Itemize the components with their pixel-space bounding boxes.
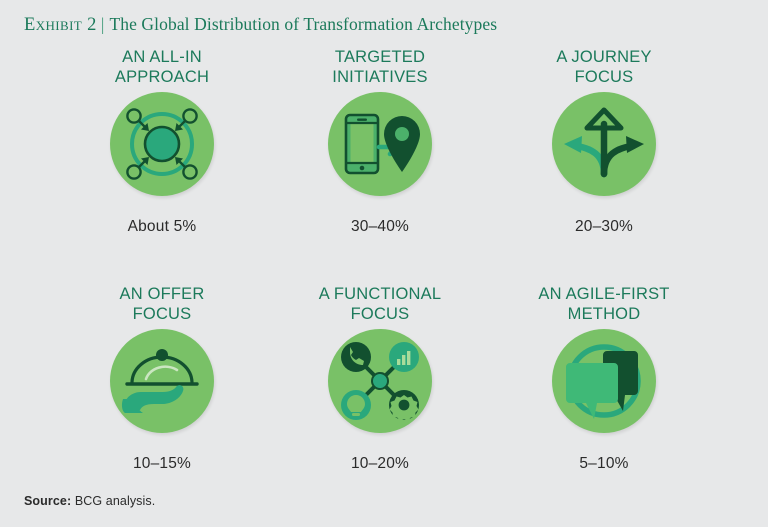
archetype-label-line1: AN ALL-IN [47, 48, 277, 68]
archetype-row-1: AN ALL-IN APPROACH [0, 48, 768, 285]
archetype-icon-wrap [489, 327, 719, 445]
archetype-card-functional-focus: A FUNCTIONAL FOCUS [265, 285, 495, 473]
archetype-label: TARGETED INITIATIVES [265, 48, 495, 90]
archetype-row-2: AN OFFER FOCUS 10 [0, 285, 768, 522]
archetype-label-line1: AN OFFER [47, 285, 277, 305]
source-label: Source: [24, 494, 71, 508]
archetype-label-line1: TARGETED [265, 48, 495, 68]
archetype-value: 5–10% [489, 455, 719, 473]
archetype-label: A JOURNEY FOCUS [489, 48, 719, 90]
archetype-label-line1: AN AGILE-FIRST [489, 285, 719, 305]
archetype-value: 20–30% [489, 218, 719, 236]
archetype-value: About 5% [47, 218, 277, 236]
archetype-label: AN AGILE-FIRST METHOD [489, 285, 719, 327]
archetype-label-line1: A JOURNEY [489, 48, 719, 68]
phone-to-map-pin-icon [328, 92, 432, 196]
exhibit-number: Exhibit 2 [24, 15, 97, 35]
archetype-label: AN OFFER FOCUS [47, 285, 277, 327]
archetype-grid: AN ALL-IN APPROACH [0, 48, 768, 522]
archetype-label-line1: A FUNCTIONAL [265, 285, 495, 305]
archetype-icon-wrap [489, 90, 719, 208]
archetype-card-journey-focus: A JOURNEY FOCUS 2 [489, 48, 719, 236]
exhibit-headline: The Global Distribution of Transformatio… [109, 14, 497, 34]
converging-arrows-icon [110, 92, 214, 196]
archetype-icon-wrap [47, 90, 277, 208]
archetype-card-agile-first-method: AN AGILE-FIRST METHOD 5–10% [489, 285, 719, 473]
source-text: BCG analysis. [71, 494, 155, 508]
archetype-label: A FUNCTIONAL FOCUS [265, 285, 495, 327]
archetype-label-line2: METHOD [489, 305, 719, 325]
title-separator: | [97, 14, 110, 35]
connected-function-nodes-icon [328, 329, 432, 433]
archetype-label-line2: FOCUS [47, 305, 277, 325]
archetype-label-line2: FOCUS [265, 305, 495, 325]
archetype-icon-wrap [265, 90, 495, 208]
source-note: Source: BCG analysis. [24, 494, 155, 508]
archetype-value: 30–40% [265, 218, 495, 236]
hand-with-cloche-icon [110, 329, 214, 433]
exhibit-figure: Exhibit 2|The Global Distribution of Tra… [0, 0, 768, 527]
three-diverging-arrows-icon [552, 92, 656, 196]
archetype-label-line2: FOCUS [489, 68, 719, 88]
archetype-value: 10–20% [265, 455, 495, 473]
archetype-card-offer-focus: AN OFFER FOCUS 10 [47, 285, 277, 473]
archetype-label: AN ALL-IN APPROACH [47, 48, 277, 90]
archetype-card-all-in-approach: AN ALL-IN APPROACH [47, 48, 277, 236]
archetype-value: 10–15% [47, 455, 277, 473]
archetype-icon-wrap [47, 327, 277, 445]
speech-bubbles-icon [552, 329, 656, 433]
archetype-icon-wrap [265, 327, 495, 445]
archetype-label-line2: INITIATIVES [265, 68, 495, 88]
archetype-label-line2: APPROACH [47, 68, 277, 88]
archetype-card-targeted-initiatives: TARGETED INITIATIVES [265, 48, 495, 236]
page-title: Exhibit 2|The Global Distribution of Tra… [24, 14, 497, 36]
